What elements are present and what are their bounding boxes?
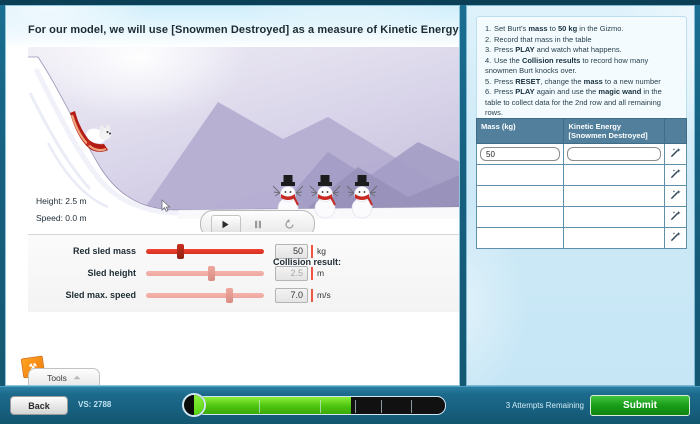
unit-marker [311, 267, 313, 280]
red-sled-with-burt [64, 109, 120, 157]
magic-wand-icon [670, 210, 681, 221]
simulation-stage[interactable]: Height: 2.5 m Speed: 0.0 m [28, 47, 460, 232]
slider-value-sled-height[interactable]: 2.5 [275, 266, 308, 281]
mass-input-1[interactable]: 50 [480, 147, 560, 161]
instruction-item-2: 2.Record that mass in the table [485, 35, 678, 46]
slider-label-sled-height: Sled height [28, 268, 136, 278]
slider-unit-red-sled-mass: kg [317, 246, 326, 256]
table-header-mass: Mass (kg) [477, 119, 564, 144]
slider-track-red-sled-mass[interactable] [146, 249, 264, 254]
table-cell-mass-1[interactable]: 50 [477, 144, 564, 165]
gizmo-panel: For our model, we will use [Snowmen Dest… [5, 5, 460, 386]
table-cell-energy-1[interactable] [564, 144, 665, 165]
progress-tick [411, 400, 412, 413]
gizmo-controls: Red sled mass 50 kg Sled height 2.5 m Sl… [28, 234, 460, 312]
slider-row-sled-max-speed: Sled max. speed 7.0 m/s [28, 285, 331, 305]
instruction-item-4: 4.Use the Collision results to record ho… [485, 56, 678, 77]
footer-bar: Back VS: 2788 3 Attempts Remaining Submi… [0, 386, 700, 424]
table-cell-energy-3[interactable] [564, 186, 665, 207]
table-header-wand [665, 119, 687, 144]
table-cell-wand-1[interactable] [665, 144, 687, 165]
back-button[interactable]: Back [10, 396, 68, 415]
table-cell-energy-4[interactable] [564, 207, 665, 228]
tools-tab[interactable]: Tools [28, 368, 100, 386]
height-readout: Height: 2.5 m [36, 196, 87, 206]
instruction-item-6: 6.Press PLAY again and use the magic wan… [485, 87, 678, 119]
slider-knob-sled-height[interactable] [208, 266, 215, 281]
playback-controls [200, 210, 315, 232]
progress-tick [320, 400, 321, 413]
table-cell-energy-5[interactable] [564, 228, 665, 249]
reset-icon [284, 219, 295, 230]
play-icon [221, 220, 230, 229]
collision-result-label: Collision result: [273, 257, 341, 267]
chevron-up-icon [73, 375, 81, 380]
instruction-list: 1.Set Burt's mass to 50 kg in the Gizmo.… [476, 16, 687, 128]
slider-knob-red-sled-mass[interactable] [177, 244, 184, 259]
table-row: 50 [477, 144, 687, 165]
magic-wand-icon [670, 231, 681, 242]
progress-tick [355, 400, 356, 413]
progress-tick [381, 400, 382, 413]
slider-unit-sled-max-speed: m/s [317, 290, 331, 300]
table-header-row: Mass (kg) Kinetic Energy[Snowmen Destroy… [477, 119, 687, 144]
table-cell-wand-3[interactable] [665, 186, 687, 207]
progress-bar-fill [197, 397, 351, 414]
table-row [477, 186, 687, 207]
instruction-item-5: 5.Press RESET, change the mass to a new … [485, 77, 678, 88]
slider-label-sled-max-speed: Sled max. speed [28, 290, 136, 300]
speed-readout: Speed: 0.0 m [36, 213, 87, 223]
magic-wand-icon [670, 189, 681, 200]
instructions-panel: 1.Set Burt's mass to 50 kg in the Gizmo.… [466, 5, 695, 386]
attempts-remaining-label: 3 Attempts Remaining [506, 401, 584, 410]
instruction-item-1: 1.Set Burt's mass to 50 kg in the Gizmo. [485, 24, 678, 35]
slider-label-red-sled-mass: Red sled mass [28, 246, 136, 256]
table-cell-wand-2[interactable] [665, 165, 687, 186]
pause-icon [254, 220, 262, 229]
pause-button[interactable] [243, 215, 273, 233]
table-row [477, 207, 687, 228]
table-cell-wand-5[interactable] [665, 228, 687, 249]
magic-wand-icon [670, 168, 681, 179]
page-title: For our model, we will use [Snowmen Dest… [28, 24, 459, 36]
data-table: Mass (kg) Kinetic Energy[Snowmen Destroy… [476, 118, 687, 249]
table-cell-mass-4[interactable] [477, 207, 564, 228]
progress-tick [259, 400, 260, 413]
table-cell-energy-2[interactable] [564, 165, 665, 186]
table-header-kinetic-energy: Kinetic Energy[Snowmen Destroyed] [564, 119, 665, 144]
table-cell-mass-5[interactable] [477, 228, 564, 249]
gizmo-activity-window: For our model, we will use [Snowmen Dest… [0, 0, 700, 424]
submit-button[interactable]: Submit [590, 395, 690, 416]
table-cell-wand-4[interactable] [665, 207, 687, 228]
mouse-cursor-icon [161, 199, 171, 213]
slider-value-sled-max-speed[interactable]: 7.0 [275, 288, 308, 303]
instruction-item-3: 3.Press PLAY and watch what happens. [485, 45, 678, 56]
table-row [477, 165, 687, 186]
slider-track-sled-height[interactable] [146, 271, 264, 276]
slider-knob-sled-max-speed[interactable] [226, 288, 233, 303]
vs-score-label: VS: 2788 [78, 400, 111, 409]
tools-tab-label: Tools [47, 373, 67, 383]
table-row [477, 228, 687, 249]
reset-button[interactable] [275, 215, 305, 233]
slider-unit-sled-height: m [317, 268, 324, 278]
unit-marker [311, 245, 313, 258]
energy-input-1[interactable] [567, 147, 661, 161]
progress-handle[interactable] [182, 393, 206, 417]
play-button[interactable] [211, 215, 241, 233]
unit-marker [311, 289, 313, 302]
table-cell-mass-2[interactable] [477, 165, 564, 186]
table-cell-mass-3[interactable] [477, 186, 564, 207]
progress-bar[interactable] [196, 396, 446, 415]
slider-track-sled-max-speed[interactable] [146, 293, 264, 298]
magic-wand-icon [670, 147, 681, 158]
